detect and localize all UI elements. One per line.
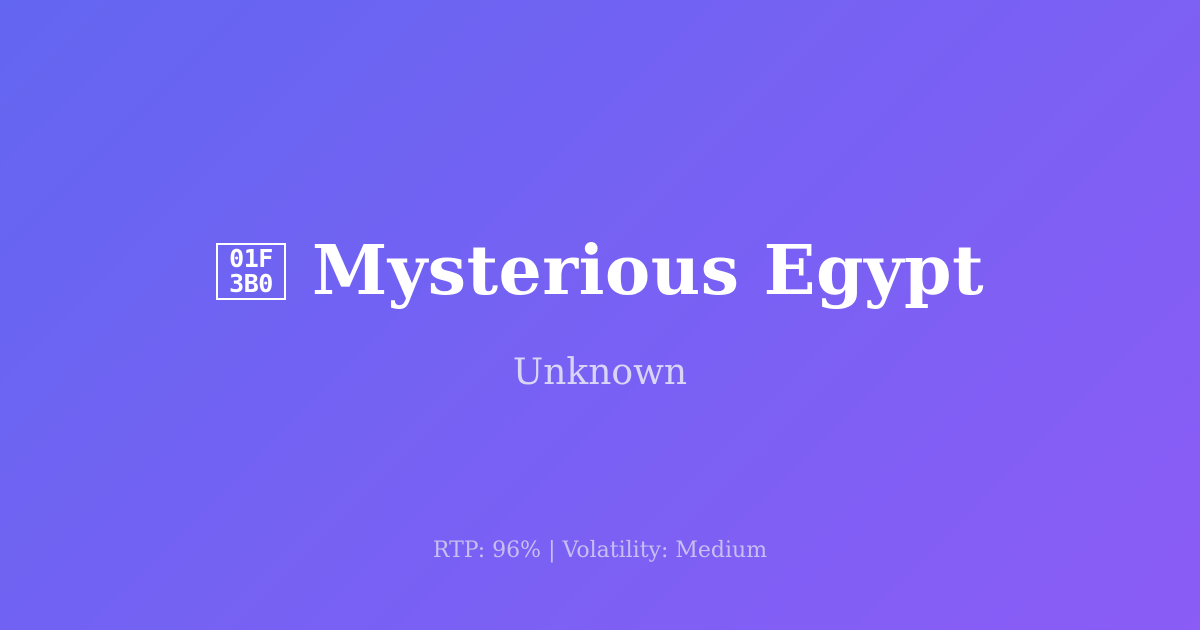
card-subtitle: Unknown	[513, 351, 687, 394]
page-title: Mysterious Egypt	[312, 235, 984, 307]
tofu-hex-row-top: 01F	[229, 246, 273, 272]
card-meta-line: RTP: 96% | Volatility: Medium	[0, 538, 1200, 564]
og-share-card: 01F 3B0 Mysterious Egypt Unknown RTP: 96…	[0, 0, 1200, 630]
hero-row: 01F 3B0 Mysterious Egypt	[0, 235, 1200, 307]
slot-machine-icon: 01F 3B0	[216, 243, 286, 300]
tofu-hex-row-bottom: 3B0	[229, 271, 273, 297]
